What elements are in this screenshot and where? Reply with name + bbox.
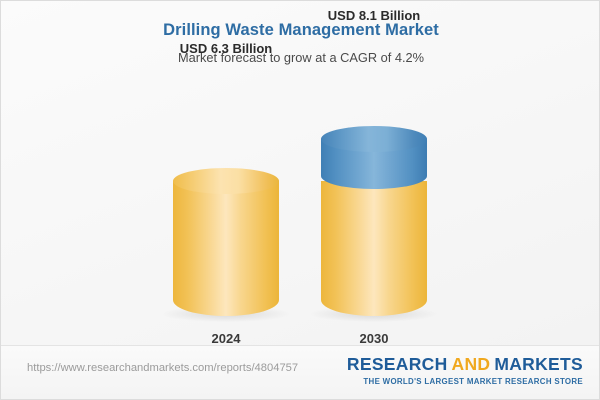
logo-word-research: RESEARCH — [347, 354, 448, 374]
bar-group-2024: USD 6.3 Billion 2024 — [173, 36, 279, 346]
bar-body-2030-base — [321, 181, 427, 316]
bar-cylinder-2030[interactable] — [321, 126, 427, 316]
brand-logo[interactable]: RESEARCHANDMARKETS THE WORLD'S LARGEST M… — [347, 354, 583, 386]
bar-cylinder-2024[interactable] — [173, 168, 279, 316]
bar-value-label-2024: USD 6.3 Billion — [180, 41, 272, 56]
chart-card: Drilling Waste Management Market Market … — [0, 0, 600, 400]
bar-group-2030: USD 8.1 Billion 2030 — [321, 36, 427, 346]
report-url[interactable]: https://www.researchandmarkets.com/repor… — [27, 362, 298, 374]
axis-label-2024: 2024 — [212, 331, 241, 346]
bar-value-label-2030: USD 8.1 Billion — [328, 8, 420, 23]
logo-word-markets: MARKETS — [494, 354, 583, 374]
footer: https://www.researchandmarkets.com/repor… — [1, 345, 600, 399]
bar-top-ellipse-2030 — [321, 126, 427, 152]
logo-tagline: THE WORLD'S LARGEST MARKET RESEARCH STOR… — [347, 377, 583, 386]
logo-wordmark: RESEARCHANDMARKETS — [347, 354, 583, 375]
bar-body-2024-base — [173, 181, 279, 316]
chart-plot-area: USD 6.3 Billion 2024 USD 8.1 Billion 203… — [1, 1, 600, 346]
logo-word-and: AND — [452, 354, 491, 374]
axis-label-2030: 2030 — [360, 331, 389, 346]
bar-top-ellipse-2024 — [173, 168, 279, 194]
